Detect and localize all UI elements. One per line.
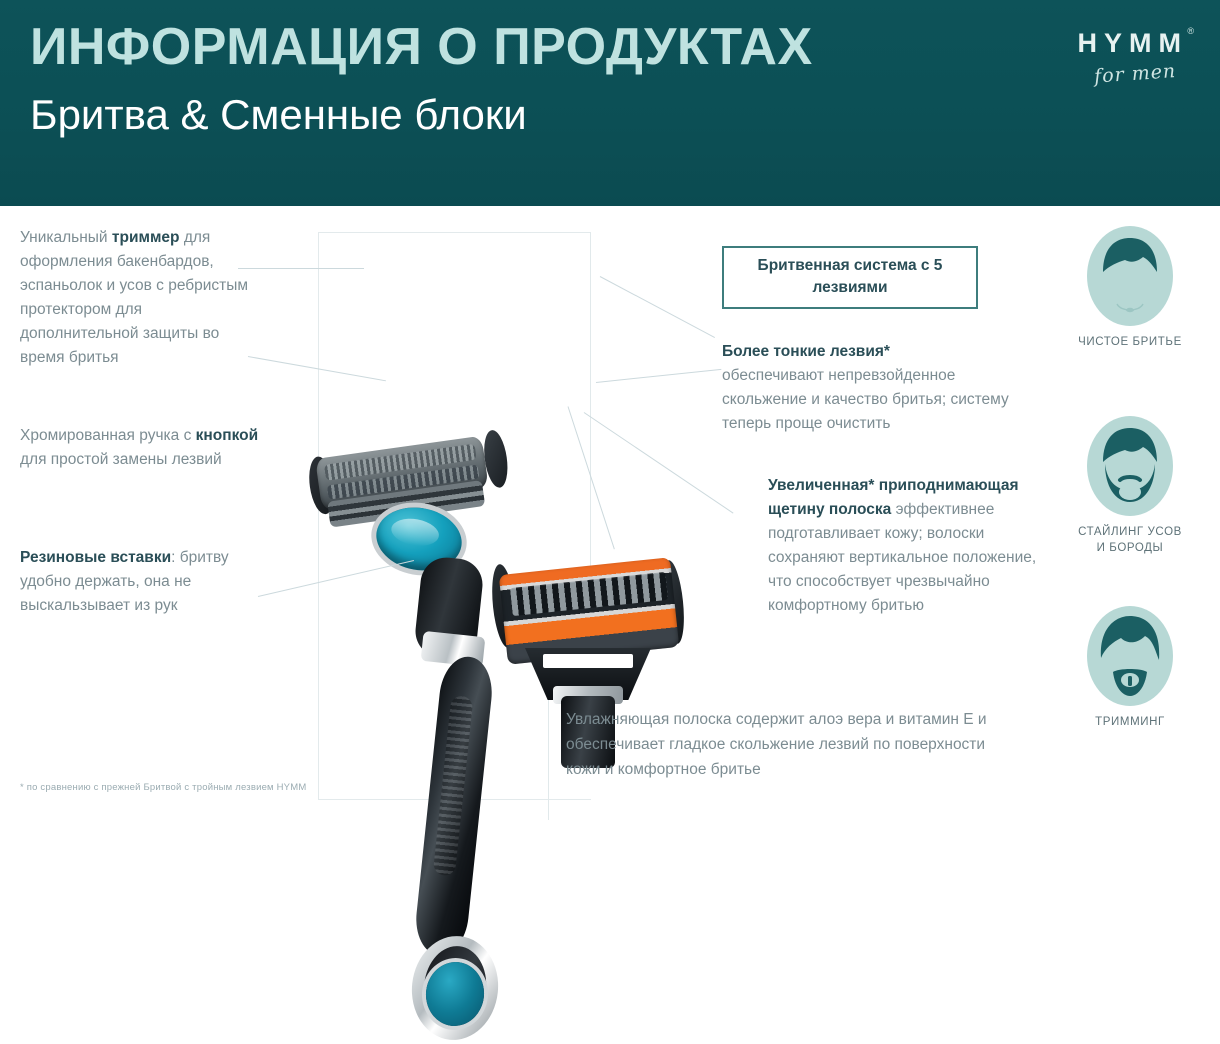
- razor-handle: [412, 654, 495, 958]
- brand-logo-text: HYMM: [1078, 28, 1189, 59]
- leader-line-blades: [596, 369, 721, 383]
- leader-line-strip: [584, 412, 734, 513]
- beard-styling-caption-line2: И БОРОДЫ: [1055, 541, 1205, 557]
- cartridge-gap: [543, 654, 633, 668]
- callout-moisture-strip: Увлажняющая полоска содержит алоэ вера и…: [566, 708, 1006, 782]
- trimming-caption: ТРИММИНГ: [1055, 715, 1205, 731]
- callout-chrome-handle-rest: для простой замены лезвий: [20, 451, 222, 468]
- clean-shave-circle: [1087, 226, 1173, 326]
- page-subtitle: Бритва & Сменные блоки: [30, 92, 527, 138]
- callout-trimmer-bold: триммер: [112, 229, 180, 246]
- benefit-clean-shave: ЧИСТОЕ БРИТЬЕ: [1055, 226, 1205, 351]
- callout-rubber-inserts: Резиновые вставки: бритву удобно держать…: [20, 546, 270, 618]
- clean-shave-face-icon: [1087, 226, 1173, 326]
- callout-chrome-handle-lead: Хромированная ручка с: [20, 427, 196, 444]
- boxed-callout-line2: лезвиями: [734, 277, 966, 299]
- beard-styling-caption-line1: СТАЙЛИНГ УСОВ: [1055, 525, 1205, 541]
- callout-thinner-blades: Более тонкие лезвия* обеспечивают непрев…: [722, 340, 1022, 436]
- callout-trimmer: Уникальный триммер для оформления бакенб…: [20, 226, 260, 370]
- goatee-face-icon: [1087, 606, 1173, 706]
- callout-trimmer-lead: Уникальный: [20, 229, 112, 246]
- page-title: ИНФОРМАЦИЯ О ПРОДУКТАХ: [30, 20, 813, 75]
- benefit-icon-column: ЧИСТОЕ БРИТЬЕ СТАЙЛИНГ УСОВ И БОРОДЫ: [1055, 226, 1205, 806]
- beard-face-icon: [1087, 416, 1173, 516]
- boxed-callout-blade-system: Бритвенная система с 5 лезвиями: [722, 246, 978, 309]
- callout-rubber-inserts-bold: Резиновые вставки: [20, 549, 171, 566]
- brand-trademark-icon: ®: [1187, 26, 1194, 36]
- brand-tagline: for men: [1093, 60, 1176, 88]
- trimming-circle: [1087, 606, 1173, 706]
- content-area: Уникальный триммер для оформления бакенб…: [0, 206, 1220, 820]
- callout-lift-strip: Увеличенная* приподнимающая щетину полос…: [768, 474, 1058, 618]
- callout-thinner-blades-rest: обеспечивают непревзойденное скольжение …: [722, 367, 1009, 432]
- beard-styling-caption: СТАЙЛИНГ УСОВ И БОРОДЫ: [1055, 525, 1205, 556]
- beard-styling-circle: [1087, 416, 1173, 516]
- leader-line-system: [600, 276, 715, 338]
- callout-chrome-handle-bold: кнопкой: [196, 427, 259, 444]
- infographic-page: ИНФОРМАЦИЯ О ПРОДУКТАХ Бритва & Сменные …: [0, 0, 1220, 820]
- boxed-callout-line1: Бритвенная система с 5: [734, 255, 966, 277]
- clean-shave-caption: ЧИСТОЕ БРИТЬЕ: [1055, 335, 1205, 351]
- callout-trimmer-rest: для оформления бакенбардов, эспаньолок и…: [20, 229, 248, 366]
- rubber-grip-insert: [433, 695, 474, 876]
- callout-thinner-blades-bold: Более тонкие лезвия*: [722, 343, 890, 360]
- header-banner: ИНФОРМАЦИЯ О ПРОДУКТАХ Бритва & Сменные …: [0, 0, 1220, 206]
- callout-chrome-handle: Хромированная ручка с кнопкой для просто…: [20, 424, 270, 472]
- brand-logo: HYMM ® for men: [1012, 22, 1192, 100]
- benefit-beard-styling: СТАЙЛИНГ УСОВ И БОРОДЫ: [1055, 416, 1205, 556]
- benefit-trimming: ТРИММИНГ: [1055, 606, 1205, 731]
- footnote-text: * по сравнению с прежней Бритвой с тройн…: [20, 782, 306, 793]
